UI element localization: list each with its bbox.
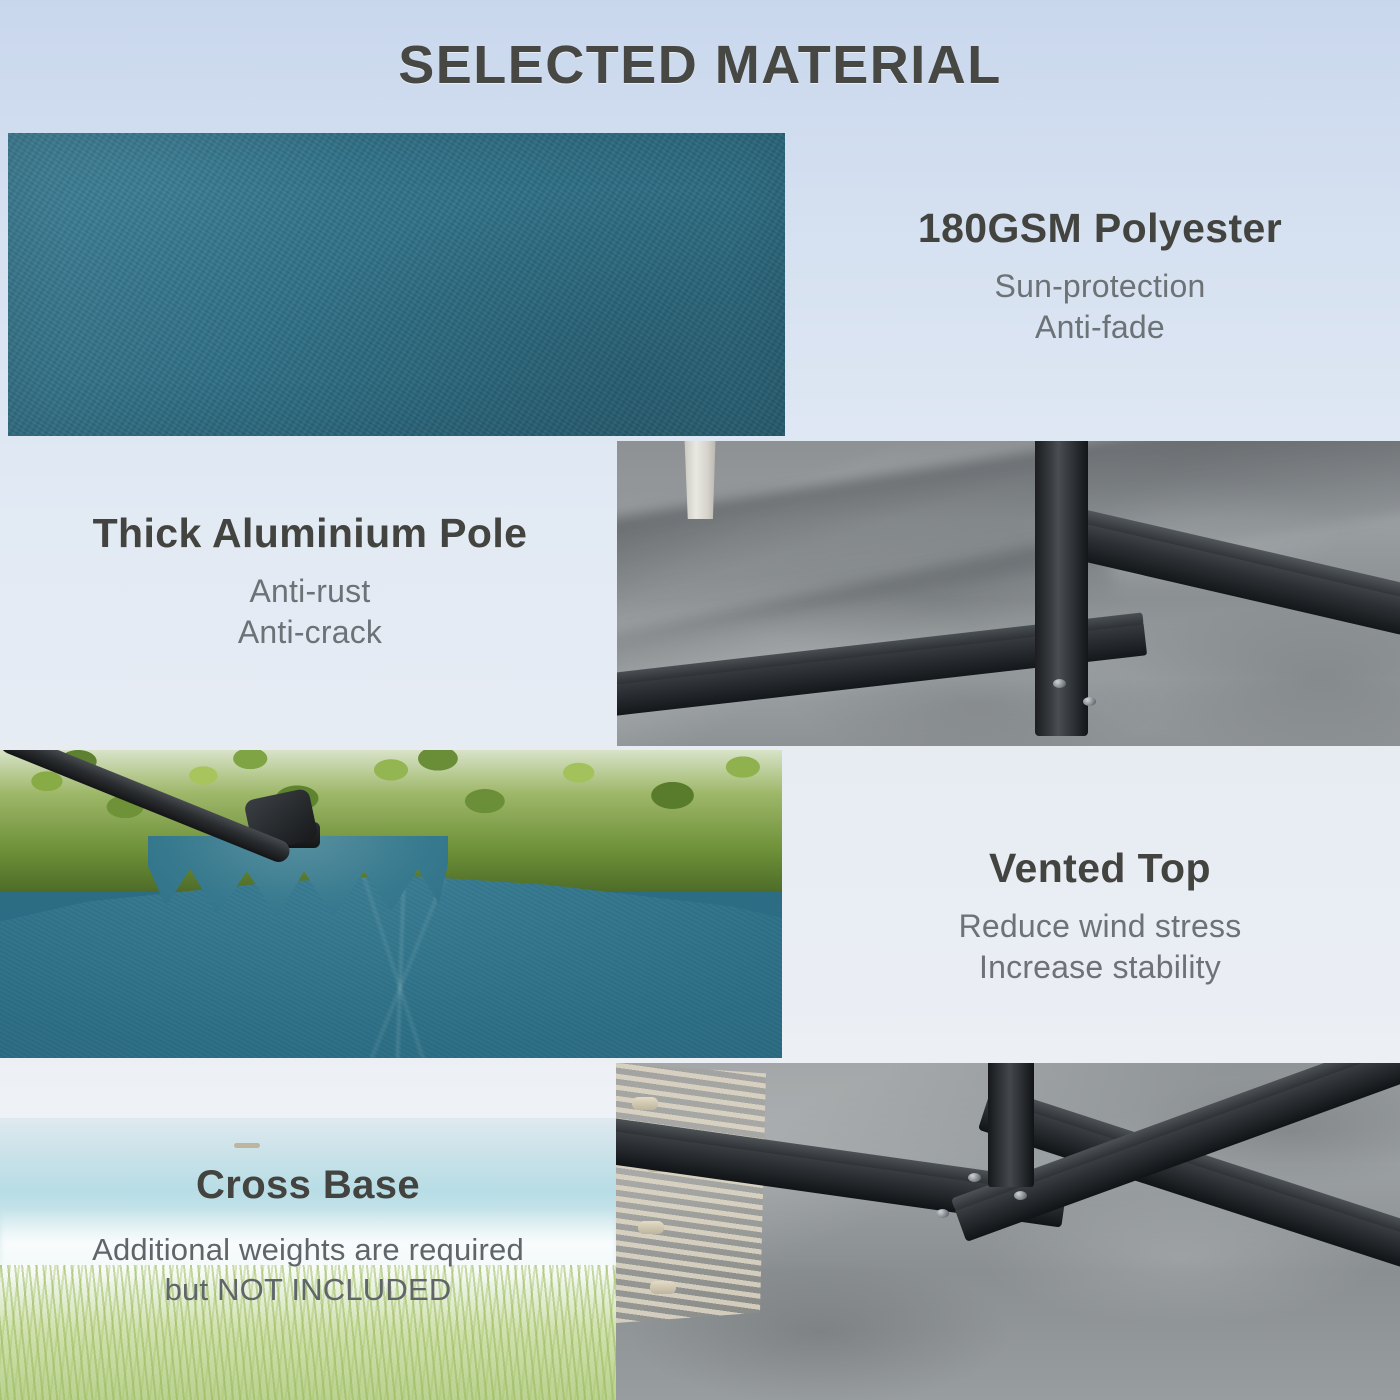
feature-subtext-vented-top: Reduce wind stress Increase stability bbox=[800, 906, 1400, 988]
feature-subline: Anti-rust bbox=[0, 571, 620, 612]
bolt-icon bbox=[1083, 697, 1096, 706]
cross-base-image bbox=[616, 1063, 1400, 1400]
page-title: SELECTED MATERIAL bbox=[0, 34, 1400, 96]
feature-title-cross-base: Cross Base bbox=[0, 1163, 616, 1208]
feature-subtext-pole: Anti-rust Anti-crack bbox=[0, 571, 620, 653]
fringe-knot bbox=[650, 1281, 676, 1294]
feature-block-vented-top: Vented Top Reduce wind stress Increase s… bbox=[800, 845, 1400, 988]
table-leg bbox=[683, 441, 717, 519]
aluminium-pole-image bbox=[617, 441, 1400, 746]
aluminium-pole bbox=[988, 1063, 1034, 1187]
fringe-knot bbox=[638, 1221, 664, 1234]
feature-block-cross-base: Cross Base Additional weights are requir… bbox=[0, 1163, 616, 1309]
feature-title-polyester: 180GSM Polyester bbox=[800, 205, 1400, 252]
fabric-swatch-image bbox=[8, 133, 785, 436]
bolt-icon bbox=[1014, 1191, 1027, 1200]
feature-title-pole: Thick Aluminium Pole bbox=[0, 510, 620, 557]
fringe-knot bbox=[632, 1097, 658, 1110]
feature-title-vented-top: Vented Top bbox=[800, 845, 1400, 892]
bolt-icon bbox=[1053, 679, 1066, 688]
feature-block-pole: Thick Aluminium Pole Anti-rust Anti-crac… bbox=[0, 510, 620, 653]
feature-subline: Anti-crack bbox=[0, 612, 620, 653]
bolt-icon bbox=[968, 1173, 981, 1182]
vented-top-image bbox=[0, 750, 782, 1058]
feature-block-polyester: 180GSM Polyester Sun-protection Anti-fad… bbox=[800, 205, 1400, 348]
feature-subtext-polyester: Sun-protection Anti-fade bbox=[800, 266, 1400, 348]
feature-subline: Sun-protection bbox=[800, 266, 1400, 307]
feature-subline: Additional weights are required bbox=[0, 1230, 616, 1270]
feature-subline: Reduce wind stress bbox=[800, 906, 1400, 947]
feature-subline: Increase stability bbox=[800, 947, 1400, 988]
boat-silhouette bbox=[234, 1143, 260, 1148]
feature-subline: but NOT INCLUDED bbox=[0, 1270, 616, 1310]
bolt-icon bbox=[936, 1209, 949, 1218]
page-title-wrap: SELECTED MATERIAL bbox=[0, 34, 1400, 96]
feature-subline: Anti-fade bbox=[800, 307, 1400, 348]
feature-subtext-cross-base: Additional weights are required but NOT … bbox=[0, 1230, 616, 1309]
aluminium-pole bbox=[1035, 441, 1088, 736]
